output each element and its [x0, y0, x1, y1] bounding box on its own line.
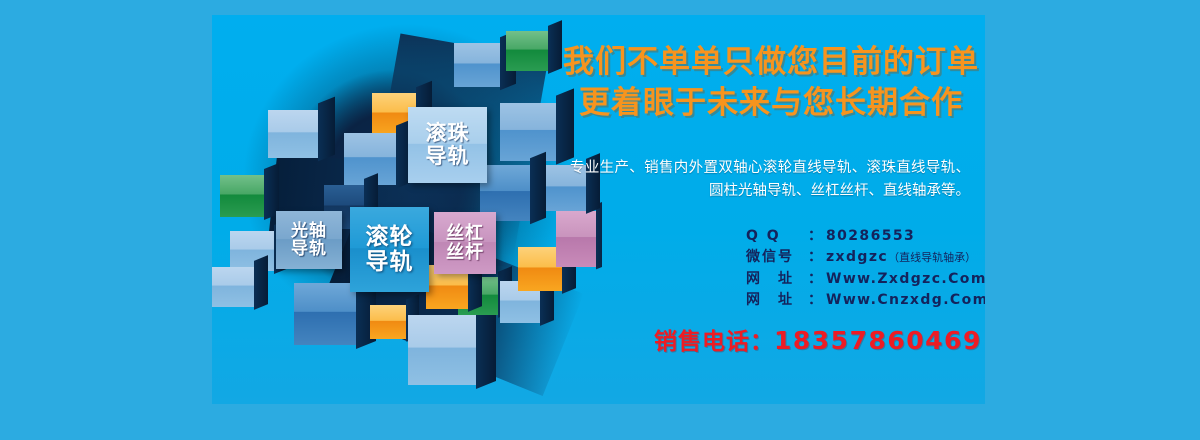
contact-note-wechat: （直线导轨轴承） [888, 250, 976, 267]
product-cube-gunzhu-line1: 滚珠 [426, 121, 470, 145]
contact-row-qq: Q Q ： 80286553 [746, 226, 985, 247]
contact-label-website-2: 网 址 [746, 290, 808, 311]
product-cube-sigang-line1: 丝杠 [446, 223, 484, 244]
product-cube-guangzhou-line2: 导轨 [291, 239, 327, 259]
contact-label-website-1: 网 址 [746, 269, 808, 290]
contact-value-website-2[interactable]: Www.Cnzxdg.Com [826, 290, 985, 311]
banner-content: 我们不单单只做您目前的订单 更着眼于未来与您长期合作 专业生产、销售内外置双轴心… [602, 15, 985, 404]
banner-page: 滚珠 导轨 光轴 导轨 滚轮 导轨 丝杠 丝杆 [0, 0, 1200, 440]
decor-cube-green-left [220, 175, 264, 217]
sales-phone-number[interactable]: 18357860469 [774, 326, 982, 355]
contact-row-website-1: 网 址 ： Www.Zxdgzc.Com [746, 269, 985, 290]
product-cube-gunlun-line2: 导轨 [366, 249, 414, 275]
exploded-cube-artwork: 滚珠 导轨 光轴 导轨 滚轮 导轨 丝杠 丝杆 [212, 15, 602, 404]
decor-cube-2 [506, 31, 548, 71]
contact-colon-website-1: ： [808, 269, 822, 290]
sales-phone-label: 销售电话： [654, 329, 774, 355]
contact-row-wechat: 微信号 ： zxdgzc （直线导轨轴承） [746, 247, 985, 268]
contact-row-website-2: 网 址 ： Www.Cnzxdg.Com [746, 290, 985, 311]
sales-phone[interactable]: 销售电话：18357860469 [654, 322, 982, 356]
contact-value-wechat[interactable]: zxdgzc [826, 247, 888, 268]
decor-cube-6 [268, 110, 318, 158]
decor-cube-orange-low [370, 305, 406, 339]
product-cube-gunzhu-line2: 导轨 [426, 144, 470, 168]
contact-colon-qq: ： [808, 226, 822, 247]
headline-line-1: 我们不单单只做您目前的订单 [557, 42, 985, 83]
contact-block: Q Q ： 80286553 微信号 ： zxdgzc （直线导轨轴承） 网 址… [746, 226, 985, 311]
contact-value-website-1[interactable]: Www.Zxdgzc.Com [826, 269, 985, 290]
decor-cube-1 [454, 43, 500, 87]
contact-label-wechat: 微信号 [746, 247, 808, 268]
headline-line-2: 更着眼于未来与您长期合作 [557, 83, 985, 124]
decor-cube-8 [212, 267, 254, 307]
contact-colon-website-2: ： [808, 290, 822, 311]
product-cube-gunlun-daogui[interactable]: 滚轮 导轨 [350, 207, 429, 292]
contact-value-qq[interactable]: 80286553 [826, 226, 915, 247]
contact-label-qq: Q Q [746, 226, 808, 247]
decor-cube-9 [294, 283, 356, 345]
decor-cube-15 [556, 211, 596, 267]
description-paragraph: 专业生产、销售内外置双轴心滚轮直线导轨、滚珠直线导轨、圆柱光轴导轨、丝杠丝杆、直… [570, 157, 970, 204]
product-cube-sigang-sigan[interactable]: 丝杠 丝杆 [434, 212, 496, 274]
product-cube-gunzhu-daogui[interactable]: 滚珠 导轨 [408, 107, 487, 183]
product-cube-guangzhou-line1: 光轴 [291, 221, 327, 241]
banner-panel: 滚珠 导轨 光轴 导轨 滚轮 导轨 丝杠 丝杆 [212, 15, 985, 404]
decor-cube-10 [408, 315, 476, 385]
headline: 我们不单单只做您目前的订单 更着眼于未来与您长期合作 [557, 42, 985, 124]
contact-colon-wechat: ： [808, 247, 822, 268]
product-cube-gunlun-line1: 滚轮 [366, 224, 414, 250]
decor-cube-4 [500, 103, 556, 161]
product-cube-sigang-line2: 丝杆 [446, 242, 484, 263]
product-cube-guangzhou-daogui[interactable]: 光轴 导轨 [276, 211, 342, 269]
